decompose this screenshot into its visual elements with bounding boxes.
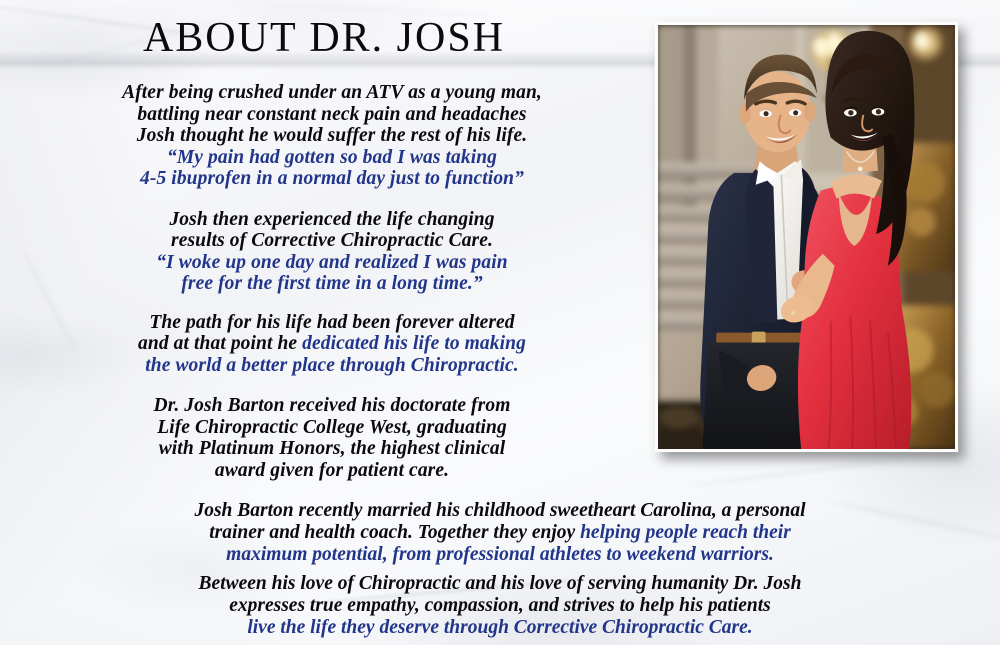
quote-line: “My pain had gotten so bad I was taking	[167, 147, 497, 168]
line: Life Chiropractic College West, graduati…	[157, 417, 507, 438]
line-emphasis: maximum potential, from professional ath…	[226, 544, 774, 565]
line-emphasis: the world a better place through Chiropr…	[145, 355, 519, 376]
quote-line: “I woke up one day and realized I was pa…	[156, 252, 507, 273]
about-page: ABOUT DR. JOSH After being crushed under…	[0, 0, 1000, 645]
line-emphasis: dedicated his life to making	[302, 333, 526, 354]
paragraph-intro: After being crushed under an ATV as a yo…	[14, 82, 650, 190]
line-emphasis: live the life they deserve through Corre…	[247, 617, 752, 638]
line-emphasis: helping people reach their	[580, 522, 791, 543]
line: expresses true empathy, compassion, and …	[229, 595, 771, 616]
paragraph-results: Josh then experienced the life changing …	[14, 209, 650, 295]
line: The path for his life had been forever a…	[149, 312, 514, 333]
quote-line: free for the first time in a long time.”	[181, 273, 482, 294]
line: results of Corrective Chiropractic Care.	[171, 230, 493, 251]
marble-vein-icon	[691, 457, 910, 488]
line: After being crushed under an ATV as a yo…	[122, 82, 542, 103]
line: Between his love of Chiropractic and his…	[199, 573, 802, 594]
couple-photo-frame	[655, 22, 958, 452]
line: Josh Barton recently married his childho…	[194, 500, 805, 521]
paragraph-education: Dr. Josh Barton received his doctorate f…	[14, 395, 650, 481]
couple-photo	[658, 25, 955, 449]
page-title: ABOUT DR. JOSH	[0, 16, 648, 60]
paragraph-between: Between his love of Chiropractic and his…	[20, 573, 980, 639]
quote-line: 4-5 ibuprofen in a normal day just to fu…	[140, 168, 524, 189]
line: battling near constant neck pain and hea…	[137, 104, 526, 125]
line: award given for patient care.	[215, 460, 449, 481]
bio-text-column: After being crushed under an ATV as a yo…	[14, 82, 650, 494]
line: with Platinum Honors, the highest clinic…	[159, 438, 506, 459]
line: Josh thought he would suffer the rest of…	[137, 125, 527, 146]
line: Josh then experienced the life changing	[169, 209, 494, 230]
line: Dr. Josh Barton received his doctorate f…	[154, 395, 511, 416]
line: trainer and health coach. Together they …	[209, 522, 580, 543]
paragraph-married: Josh Barton recently married his childho…	[20, 500, 980, 566]
couple-photo-artwork	[658, 25, 955, 449]
line: and at that point he	[138, 333, 302, 354]
paragraph-path: The path for his life had been forever a…	[14, 312, 650, 377]
